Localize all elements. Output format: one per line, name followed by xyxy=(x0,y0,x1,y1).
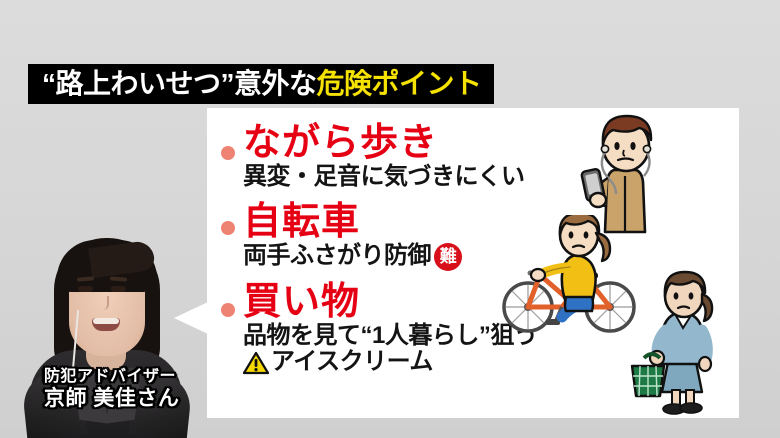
bullet-dot-icon xyxy=(221,303,235,317)
warning-triangle-icon xyxy=(243,351,269,375)
presenter-eye-right xyxy=(111,286,126,292)
presenter-eye-left xyxy=(78,286,93,292)
list-item-extra-text: アイスクリーム xyxy=(271,349,433,376)
title-banner: “路上わいせつ”意外な危険ポイント xyxy=(28,64,494,104)
girl-riding-bicycle-illustration xyxy=(500,215,640,337)
speech-bubble-tail xyxy=(174,302,208,334)
list-item-subtext: 異変・足音に気づきにくい xyxy=(243,164,525,191)
bullet-dot-icon xyxy=(221,221,235,235)
list-item-extra-row: アイスクリーム xyxy=(243,349,621,376)
list-item-heading: ながら歩き xyxy=(243,124,621,164)
title-text-white: “路上わいせつ”意外な xyxy=(42,70,317,98)
woman-with-shopping-basket-illustration xyxy=(630,270,740,418)
broadcast-screen: 防犯アドバイザー 京師 美佳さん “路上わいせつ”意外な危険ポイント ながら歩き… xyxy=(0,0,780,438)
presenter-caption: 防犯アドバイザー 京師 美佳さん xyxy=(44,368,224,410)
list-item: ながら歩き 異変・足音に気づきにくい xyxy=(221,124,621,191)
difficulty-badge: 難 xyxy=(434,243,462,271)
presenter-teeth xyxy=(93,318,119,324)
list-item-subtext: 品物を見て“1人暮らし”狙う xyxy=(243,323,537,350)
bullet-dot-icon xyxy=(221,146,235,160)
list-item-subtext-row: 異変・足音に気づきにくい xyxy=(243,164,621,191)
list-item-subtext: 両手ふさがり防御 xyxy=(243,243,431,270)
presenter-name-label: 京師 美佳さん xyxy=(44,387,224,411)
title-text-yellow: 危険ポイント xyxy=(317,70,482,98)
presenter-mouth xyxy=(92,318,120,331)
presenter-role-label: 防犯アドバイザー xyxy=(44,368,224,386)
